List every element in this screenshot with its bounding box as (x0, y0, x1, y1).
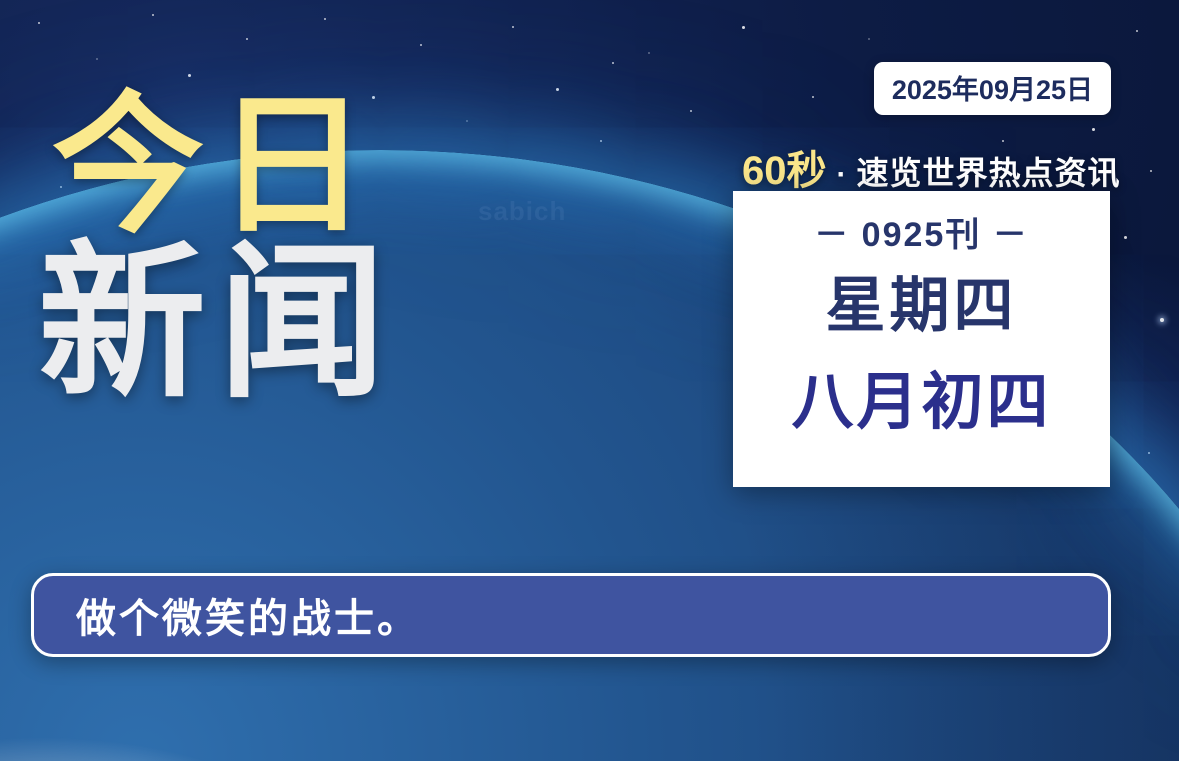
issue-number: － 0925刊 － (814, 207, 1029, 256)
info-card: － 0925刊 － 星期四 八月初四 (733, 191, 1110, 487)
quote-bar: 做个微笑的战士。 (31, 573, 1111, 657)
title-line-today: 今日 (52, 96, 398, 236)
watermark-text: sabich (478, 196, 566, 227)
poster-title: 今日 新闻 (52, 96, 398, 400)
news-poster: sabich 今日 新闻 2025年09月25日 60秒 · 速览世界热点资讯 … (0, 0, 1179, 761)
title-line-news: 新闻 (38, 246, 398, 401)
date-badge: 2025年09月25日 (874, 62, 1111, 115)
lunar-date-label: 八月初四 (791, 372, 1051, 434)
tagline-separator: · (835, 158, 849, 192)
tagline-duration: 60秒 (742, 138, 827, 196)
tagline-text: 速览世界热点资讯 (857, 148, 1121, 194)
tagline: 60秒 · 速览世界热点资讯 (742, 138, 1121, 196)
weekday-label: 星期四 (826, 276, 1018, 336)
quote-text: 做个微笑的战士。 (76, 586, 420, 644)
